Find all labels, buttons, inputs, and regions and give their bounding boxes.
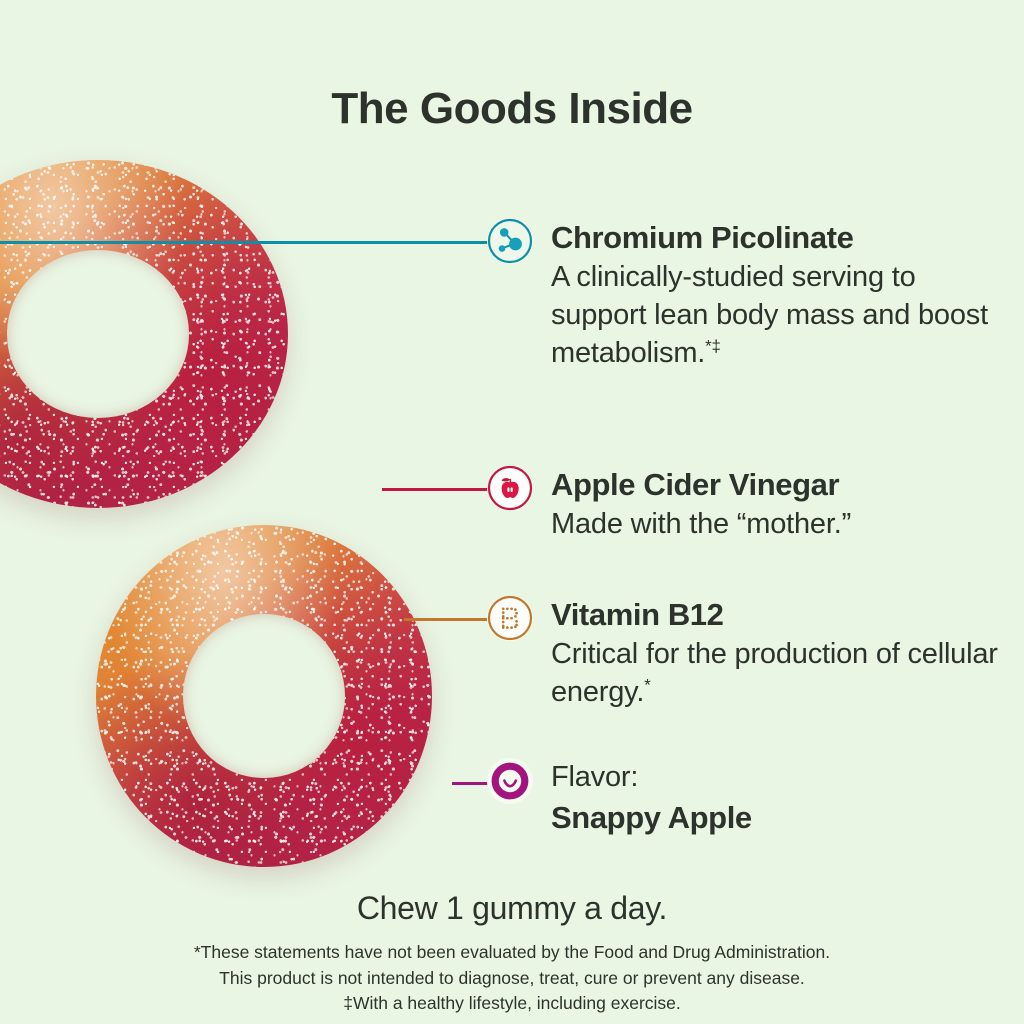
flavor-label: Flavor: (551, 760, 752, 795)
ingredient-name: Vitamin B12 (551, 597, 1017, 633)
connector-line-chromium (0, 241, 492, 244)
ingredient-row-vitamin-b12: Vitamin B12 Critical for the production … (487, 595, 1017, 711)
apple-ring-gummy-bottom (96, 525, 432, 867)
footnote-markers: * (644, 676, 650, 695)
ingredient-name: Apple Cider Vinegar (551, 467, 851, 503)
ingredient-description-text: A clinically-studied serving to support … (551, 261, 988, 370)
ingredient-copy: Chromium Picolinate A clinically-studied… (551, 218, 1017, 373)
gummy-center-hole (7, 250, 189, 417)
ingredient-row-apple-cider-vinegar: Apple Cider Vinegar Made with the “mothe… (487, 465, 1017, 543)
flavor-copy: Flavor: Snappy Apple (551, 758, 752, 837)
connector-line-apple-cider-vinegar (382, 488, 492, 491)
flavor-value: Snappy Apple (551, 798, 752, 837)
footnote-markers: *‡ (705, 337, 721, 356)
flavor-row: Flavor: Snappy Apple (487, 758, 1017, 837)
disclaimer: *These statements have not been evaluate… (0, 940, 1024, 1017)
directions-text: Chew 1 gummy a day. (0, 890, 1024, 927)
apple-ring-gummy-top (0, 160, 288, 508)
disclaimer-line: This product is not intended to diagnose… (0, 966, 1024, 992)
letter-b-dots-icon (487, 595, 533, 641)
gummy-center-hole (183, 614, 344, 778)
disclaimer-line: ‡With a healthy lifestyle, including exe… (0, 991, 1024, 1017)
ingredient-description: A clinically-studied serving to support … (551, 258, 1017, 373)
connector-line-vitamin-b12 (404, 618, 492, 621)
ingredient-description-text: Critical for the production of cellular … (551, 638, 998, 708)
molecule-icon (487, 218, 533, 264)
ingredient-description: Made with the “mother.” (551, 505, 851, 543)
smiley-face-icon (487, 758, 533, 804)
apple-icon (487, 465, 533, 511)
ingredient-name: Chromium Picolinate (551, 220, 1017, 256)
disclaimer-line: *These statements have not been evaluate… (0, 940, 1024, 966)
ingredient-copy: Apple Cider Vinegar Made with the “mothe… (551, 465, 851, 543)
ingredient-copy: Vitamin B12 Critical for the production … (551, 595, 1017, 711)
page-title: The Goods Inside (0, 84, 1024, 134)
ingredient-row-chromium: Chromium Picolinate A clinically-studied… (487, 218, 1017, 373)
ingredient-description: Critical for the production of cellular … (551, 635, 1017, 712)
